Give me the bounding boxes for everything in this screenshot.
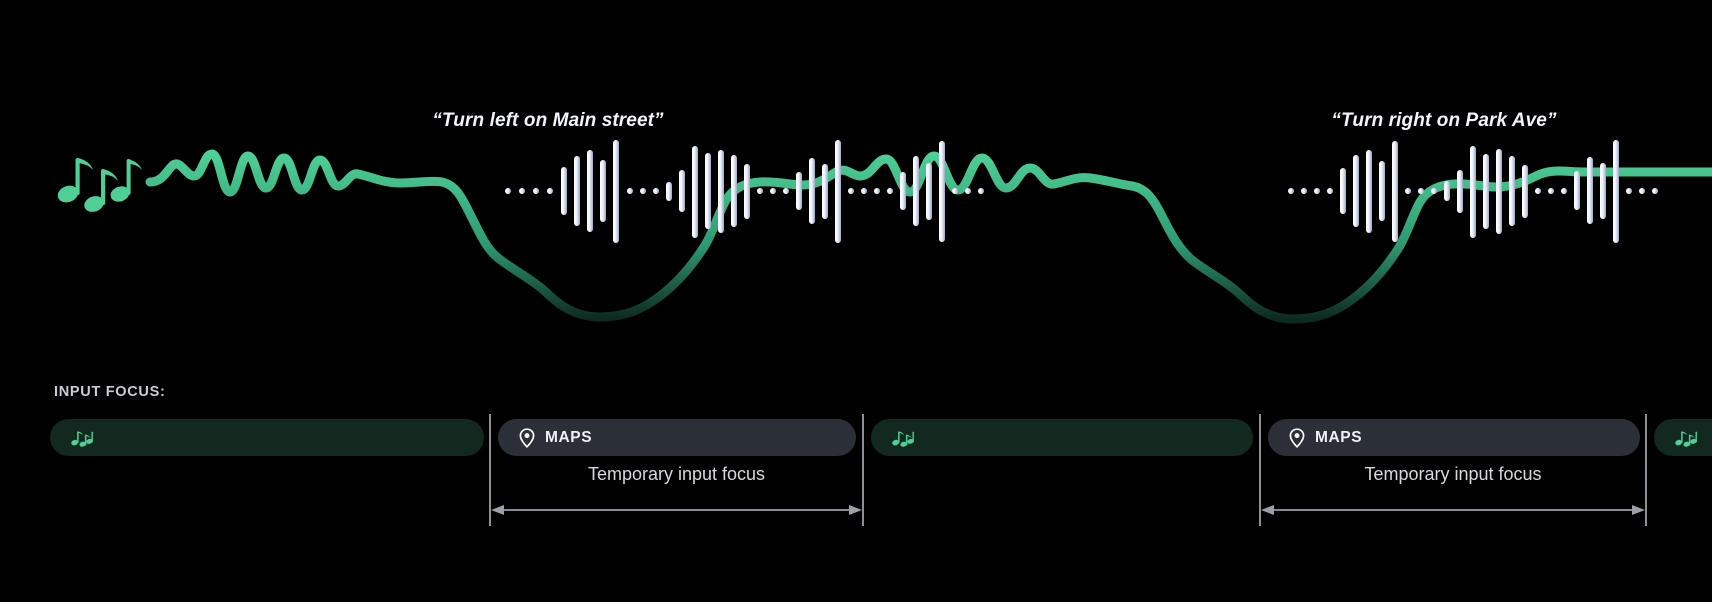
input-focus-timeline: INPUT FOCUS: [0,378,1712,602]
music-note-icon [55,158,142,215]
temporary-focus-text: Temporary input focus [1261,464,1645,485]
music-note-icon [1675,429,1697,447]
focus-segment-maps-1[interactable]: MAPS [498,419,856,456]
segment-boundary-4 [1645,414,1647,526]
utterance-caption-2: “Turn right on Park Ave” [1331,110,1556,132]
music-note-icon [892,429,914,447]
temporary-focus-text: Temporary input focus [491,464,862,485]
diagram-canvas: “Turn left on Main street” “Turn right o… [0,0,1712,602]
voice-bars-group-2 [1288,140,1658,243]
focus-segment-maps-2[interactable]: MAPS [1268,419,1640,456]
map-pin-icon [1289,428,1305,448]
focus-segment-audio-2[interactable] [871,419,1253,456]
focus-segment-audio-1[interactable] [50,419,484,456]
utterance-caption-1: “Turn left on Main street” [432,110,663,132]
double-arrow-icon [1261,502,1645,518]
focus-segment-label: MAPS [1315,429,1362,447]
temporary-focus-annotation-2: Temporary input focus [1261,464,1645,526]
focus-segment-label: MAPS [545,429,592,447]
music-note-icon [71,429,93,447]
audio-waveform-area: “Turn left on Main street” “Turn right o… [0,0,1712,360]
segment-boundary-2 [862,414,864,526]
focus-segment-audio-3[interactable] [1654,419,1712,456]
waveform-svg [0,0,1712,360]
double-arrow-icon [491,502,862,518]
temporary-focus-annotation-1: Temporary input focus [491,464,862,526]
map-pin-icon [519,428,535,448]
input-focus-label: INPUT FOCUS: [54,384,166,400]
